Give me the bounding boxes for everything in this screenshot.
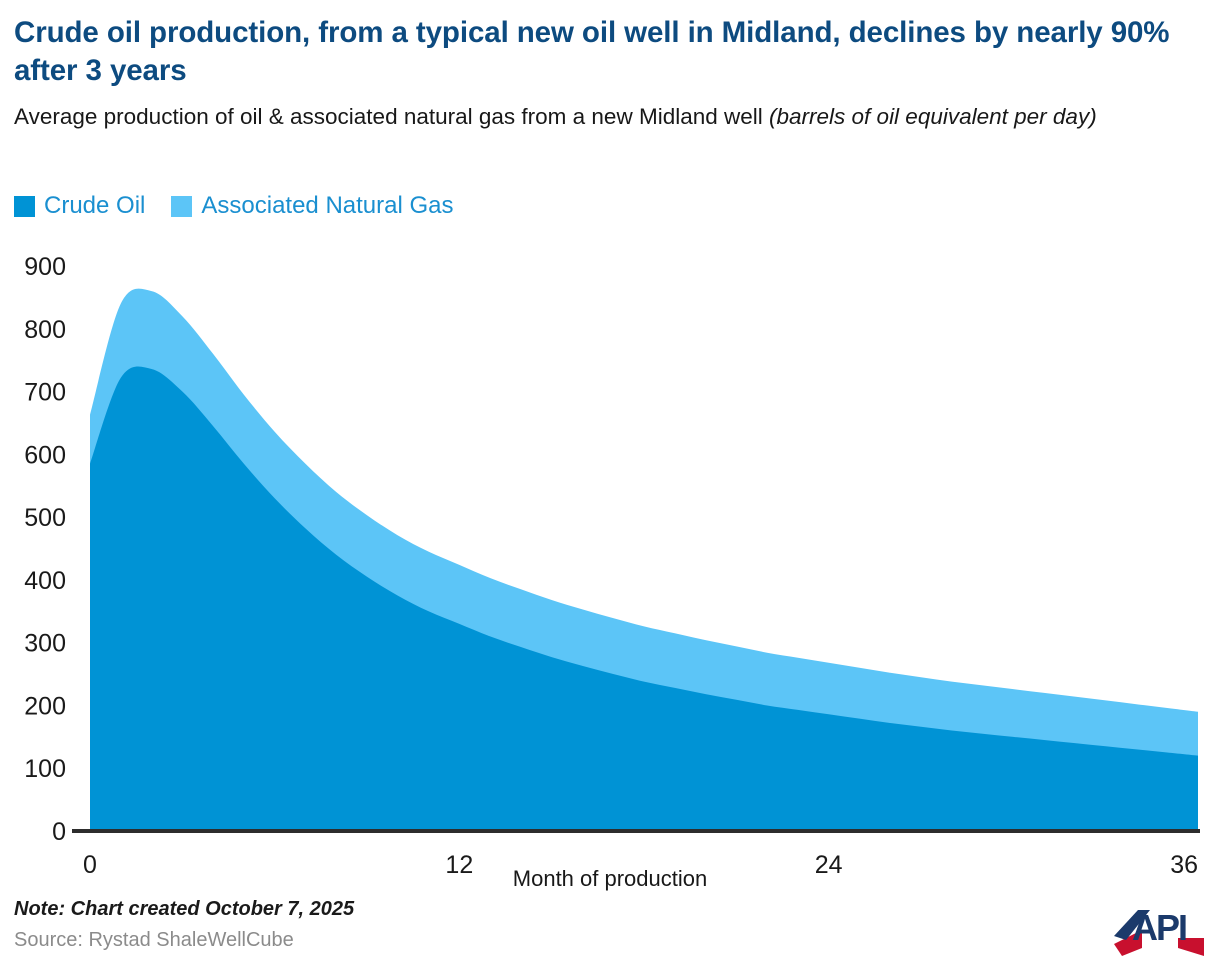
subtitle-main-text: Average production of oil & associated n… — [14, 104, 769, 129]
api-logo-icon: API — [1112, 900, 1208, 960]
legend-swatch-icon-associated-natural-gas — [171, 196, 192, 217]
y-axis-tick-label: 400 — [24, 567, 66, 595]
y-axis-tick-label: 600 — [24, 441, 66, 469]
chart-page: Crude oil production, from a typical new… — [0, 0, 1220, 968]
y-axis-tick-label: 0 — [52, 818, 66, 846]
legend-label-crude-oil: Crude Oil — [44, 192, 145, 220]
page-title: Crude oil production, from a typical new… — [14, 14, 1194, 90]
y-axis-tick-label: 800 — [24, 316, 66, 344]
y-axis-tick-label: 900 — [24, 253, 66, 281]
chart-source: Source: Rystad ShaleWellCube — [14, 926, 914, 955]
x-axis-title: Month of production — [0, 866, 1220, 892]
subtitle-units-text: (barrels of oil equivalent per day) — [769, 104, 1097, 129]
chart-subtitle: Average production of oil & associated n… — [14, 102, 1194, 132]
chart-plot-area: 01002003004005006007008009000122436 — [0, 238, 1220, 878]
legend-label-associated-natural-gas: Associated Natural Gas — [201, 192, 453, 220]
chart-footnotes: Note: Chart created October 7, 2025 Sour… — [14, 896, 914, 955]
svg-text:API: API — [1132, 907, 1186, 948]
chart-note: Note: Chart created October 7, 2025 — [14, 896, 914, 923]
stacked-area-chart: 01002003004005006007008009000122436 — [0, 238, 1220, 878]
legend-item-associated-natural-gas[interactable]: Associated Natural Gas — [171, 192, 453, 220]
chart-legend: Crude Oil Associated Natural Gas — [14, 192, 480, 220]
y-axis-tick-label: 500 — [24, 504, 66, 532]
y-axis-tick-label: 100 — [24, 755, 66, 783]
y-axis-tick-label: 700 — [24, 379, 66, 407]
y-axis-tick-label: 200 — [24, 692, 66, 720]
legend-item-crude-oil[interactable]: Crude Oil — [14, 192, 145, 220]
legend-swatch-icon-crude-oil — [14, 196, 35, 217]
y-axis-tick-label: 300 — [24, 630, 66, 658]
